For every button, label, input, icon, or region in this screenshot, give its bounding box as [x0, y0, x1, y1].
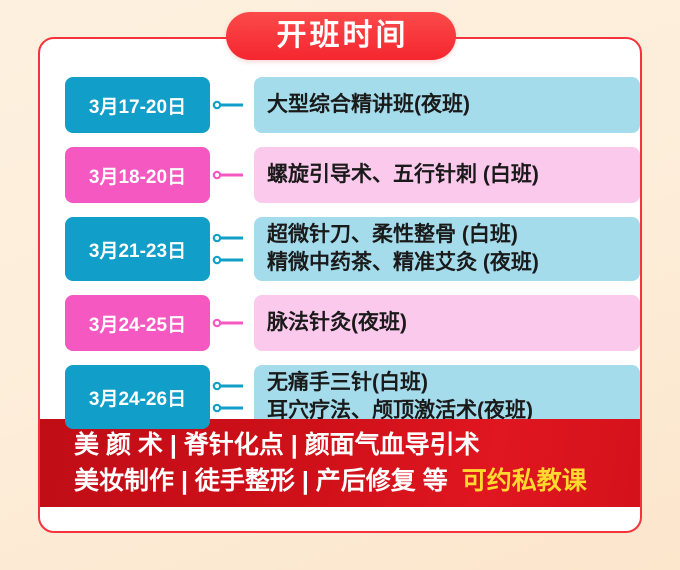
course-line: 精微中药茶、精准艾灸 (夜班) [267, 249, 640, 277]
footer-line-1: 美 颜 术 | 脊针化点 | 颜面气血导引术 [74, 427, 640, 463]
dash-connector-icon [210, 295, 254, 351]
date-badge: 3月18-20日 [65, 147, 210, 203]
course-line: 螺旋引导术、五行针刺 (白班) [267, 161, 640, 189]
page-title: 开班时间 [226, 12, 456, 60]
dash-connector-icon [210, 77, 254, 133]
poster-root: 3月17-20日大型综合精讲班(夜班)3月18-20日螺旋引导术、五行针刺 (白… [0, 0, 680, 570]
date-badge: 3月21-23日 [65, 217, 210, 281]
footer-line-2-text: 美妆制作 | 徒手整形 | 产后修复 等 [74, 467, 448, 495]
course-line: 脉法针灸(夜班) [267, 309, 640, 337]
date-badge: 3月24-25日 [65, 295, 210, 351]
footer-line-2: 美妆制作 | 徒手整形 | 产后修复 等可约私教课 [74, 463, 640, 499]
course-content: 超微针刀、柔性整骨 (白班)精微中药茶、精准艾灸 (夜班) [254, 217, 640, 281]
bracket-connector-icon [210, 217, 254, 281]
footer-banner: 美 颜 术 | 脊针化点 | 颜面气血导引术 美妆制作 | 徒手整形 | 产后修… [40, 419, 640, 507]
schedule-row: 3月24-25日脉法针灸(夜班) [40, 295, 640, 351]
date-badge: 3月17-20日 [65, 77, 210, 133]
schedule-row: 3月21-23日超微针刀、柔性整骨 (白班)精微中药茶、精准艾灸 (夜班) [40, 217, 640, 281]
page-title-label: 开班时间 [274, 21, 409, 51]
course-line: 无痛手三针(白班) [267, 369, 640, 397]
dash-connector-icon [210, 147, 254, 203]
schedule-card: 3月17-20日大型综合精讲班(夜班)3月18-20日螺旋引导术、五行针刺 (白… [38, 37, 642, 533]
course-line: 超微针刀、柔性整骨 (白班) [267, 221, 640, 249]
course-content: 大型综合精讲班(夜班) [254, 77, 640, 133]
course-content: 螺旋引导术、五行针刺 (白班) [254, 147, 640, 203]
schedule-row: 3月17-20日大型综合精讲班(夜班) [40, 77, 640, 133]
footer-highlight-text: 可约私教课 [462, 467, 587, 495]
date-badge: 3月24-26日 [65, 365, 210, 429]
schedule-row: 3月18-20日螺旋引导术、五行针刺 (白班) [40, 147, 640, 203]
course-line: 大型综合精讲班(夜班) [267, 91, 640, 119]
course-content: 脉法针灸(夜班) [254, 295, 640, 351]
schedule-rows: 3月17-20日大型综合精讲班(夜班)3月18-20日螺旋引导术、五行针刺 (白… [40, 77, 640, 443]
